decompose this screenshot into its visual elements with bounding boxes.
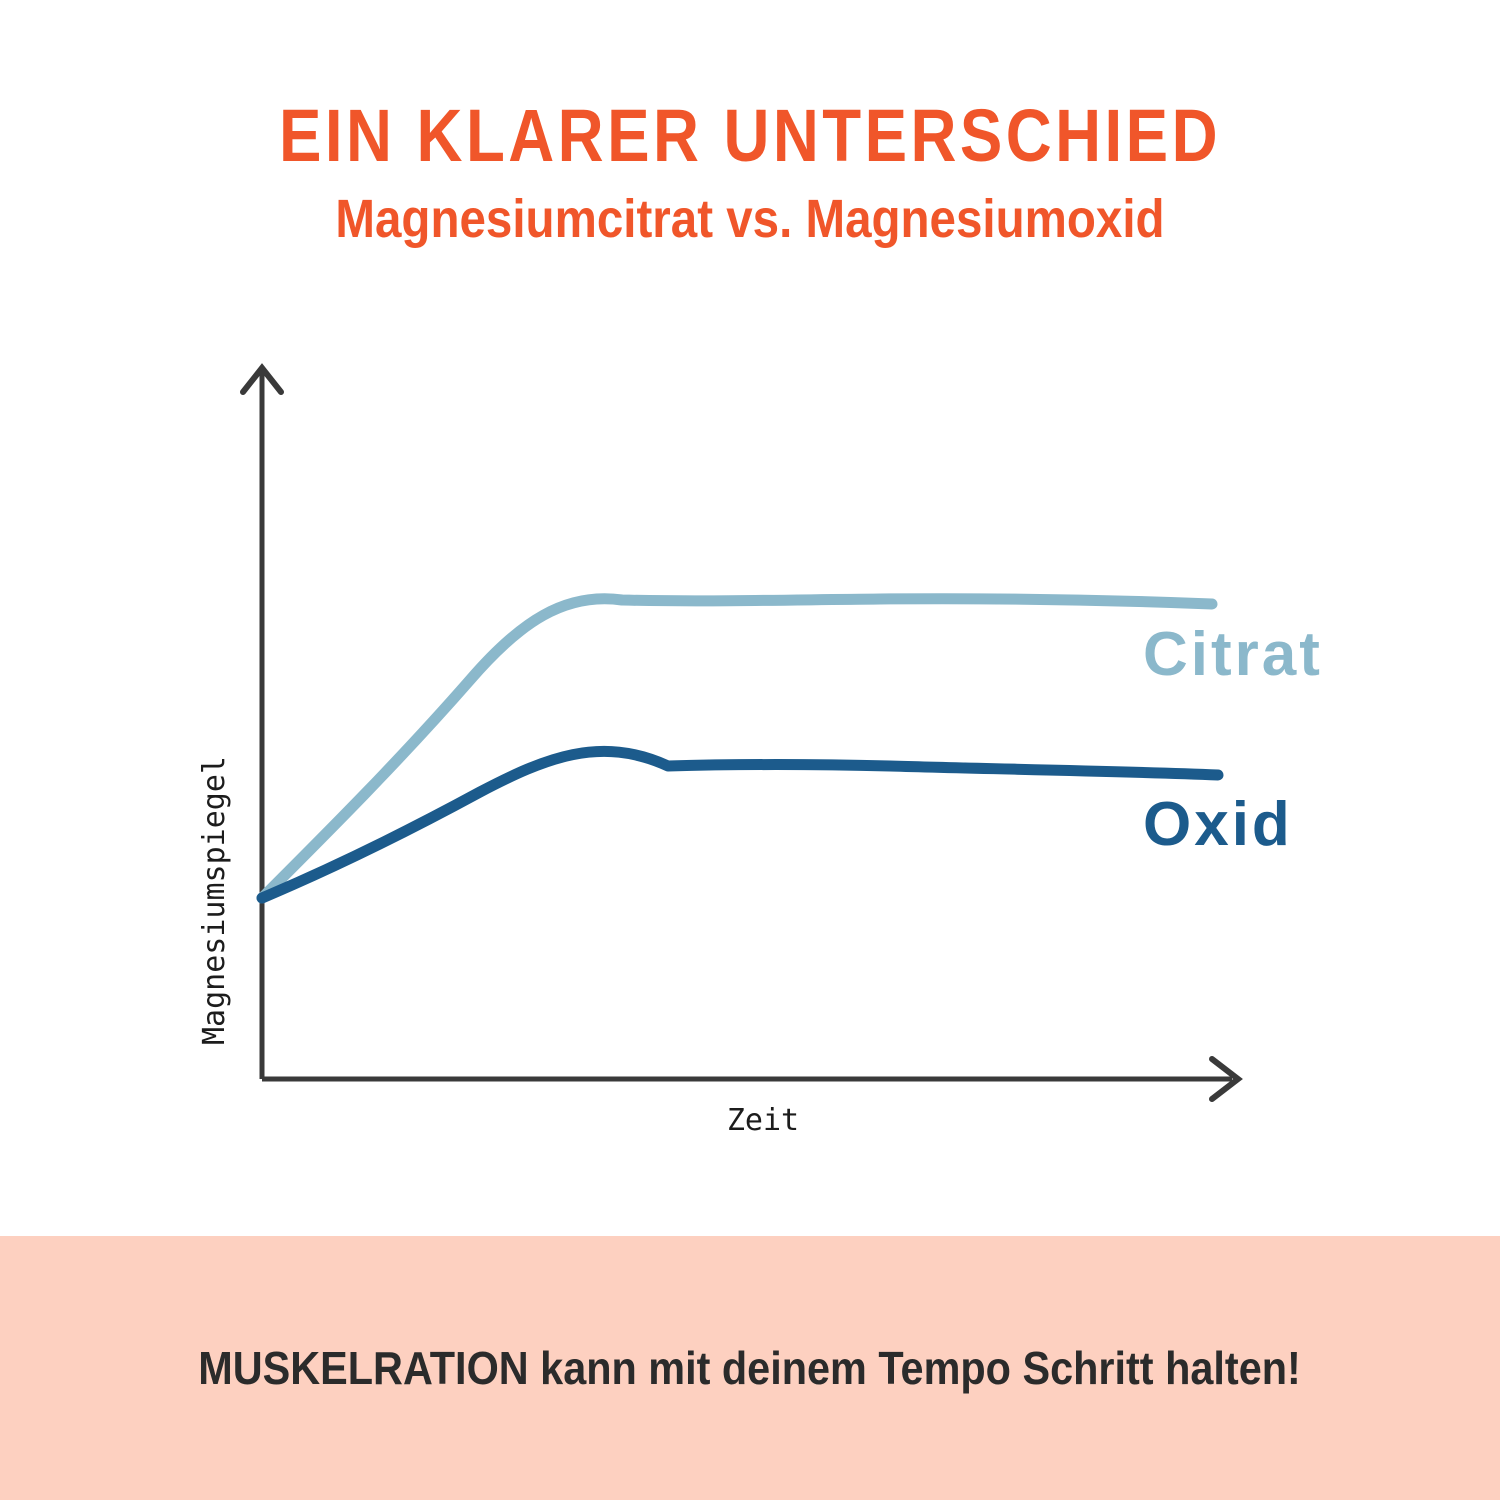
series-line-citrat <box>262 599 1212 898</box>
series-label-oxid: Oxid <box>1143 790 1293 859</box>
page-title: EIN KLARER UNTERSCHIED <box>105 0 1395 176</box>
x-axis <box>262 1059 1238 1099</box>
series-label-citrat: Citrat <box>1143 620 1323 689</box>
page-subtitle: Magnesiumcitrat vs. Magnesiumoxid <box>90 176 1410 250</box>
banner-message: MUSKELRATION kann mit deinem Tempo Schri… <box>199 1341 1302 1395</box>
y-axis-label: Magnesiumspiegel <box>197 756 232 1045</box>
infographic-poster: EIN KLARER UNTERSCHIED Magnesiumcitrat v… <box>0 0 1500 1500</box>
magnesium-absorption-line-chart: Magnesiumspiegel Zeit Citrat Oxid <box>0 330 1500 1160</box>
footer-banner: MUSKELRATION kann mit deinem Tempo Schri… <box>0 1236 1500 1500</box>
series-line-oxid <box>262 751 1218 898</box>
y-axis <box>243 368 281 1079</box>
chart-container: Magnesiumspiegel Zeit Citrat Oxid <box>0 330 1500 1160</box>
x-axis-label: Zeit <box>727 1103 799 1138</box>
header: EIN KLARER UNTERSCHIED Magnesiumcitrat v… <box>0 0 1500 250</box>
